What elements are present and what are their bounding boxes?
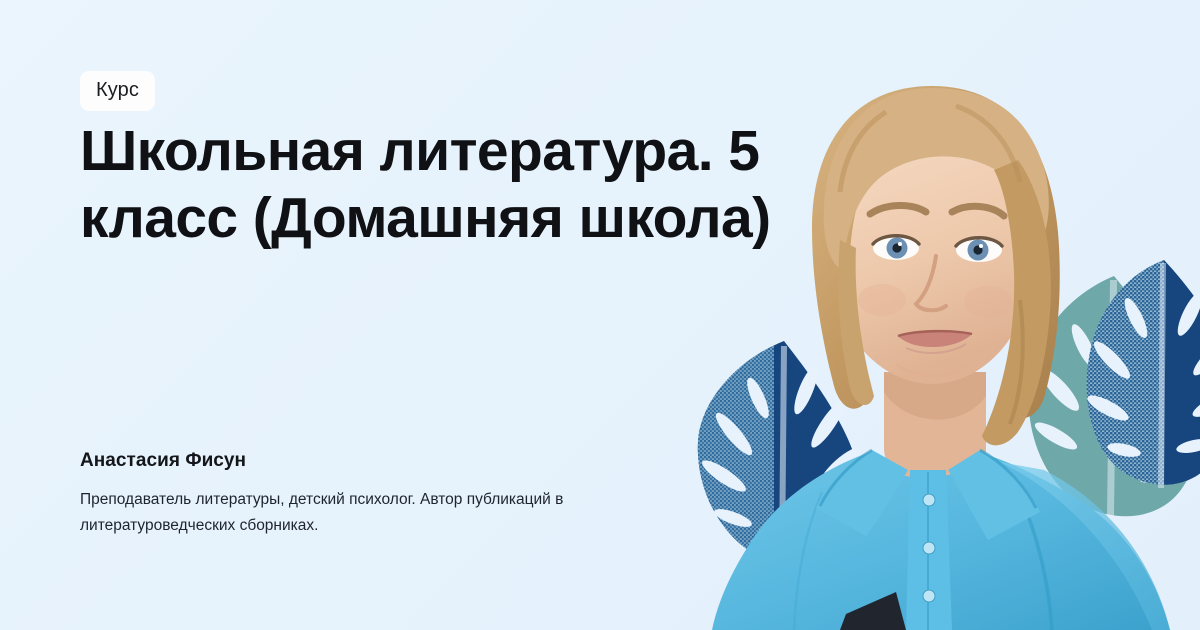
author-name: Анастасия Фисун [80,450,660,473]
course-promo-card: Курс Школьная литература. 5 класс (Домаш… [0,0,1200,630]
card-content: Курс Школьная литература. 5 класс (Домаш… [80,0,840,630]
course-type-badge: Курс [80,71,155,111]
author-description: Преподаватель литературы, детский психол… [80,487,640,540]
page-title: Школьная литература. 5 класс (Домашняя ш… [80,118,850,253]
author-block: Анастасия Фисун Преподаватель литературы… [80,450,660,540]
